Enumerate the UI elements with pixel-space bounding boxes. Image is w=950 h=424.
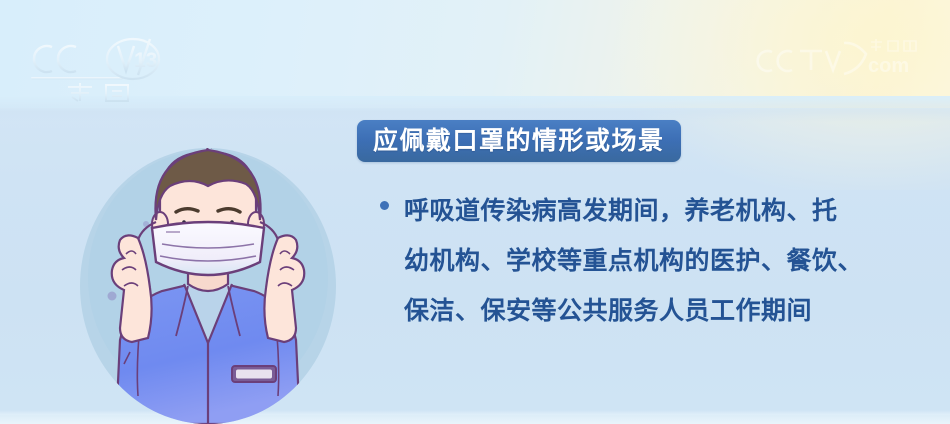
bullet-list: 呼吸道传染病高发期间，养老机构、托 幼机构、学校等重点机构的医护、餐饮、 保洁、… (380, 186, 880, 336)
cctv-com-watermark-icon: com (754, 36, 932, 86)
cctv13-channel-logo-icon: 13 (26, 33, 166, 103)
bullet-line: 幼机构、学校等重点机构的医护、餐饮、 (404, 236, 880, 286)
svg-text:13: 13 (134, 49, 157, 72)
broadcast-graphic-screen: 13 com (0, 0, 950, 424)
title-banner: 应佩戴口罩的情形或场景 (357, 120, 681, 162)
svg-text:com: com (868, 55, 909, 77)
bullet-text: 呼吸道传染病高发期间，养老机构、托 幼机构、学校等重点机构的医护、餐饮、 保洁、… (404, 186, 880, 336)
page-title: 应佩戴口罩的情形或场景 (373, 129, 665, 154)
person-wearing-mask-illustration (76, 128, 344, 424)
bullet-line: 保洁、保安等公共服务人员工作期间 (404, 286, 880, 336)
list-item: 呼吸道传染病高发期间，养老机构、托 幼机构、学校等重点机构的医护、餐饮、 保洁、… (380, 186, 880, 336)
bullet-dot-icon (380, 201, 389, 210)
bullet-line: 呼吸道传染病高发期间，养老机构、托 (404, 186, 880, 236)
